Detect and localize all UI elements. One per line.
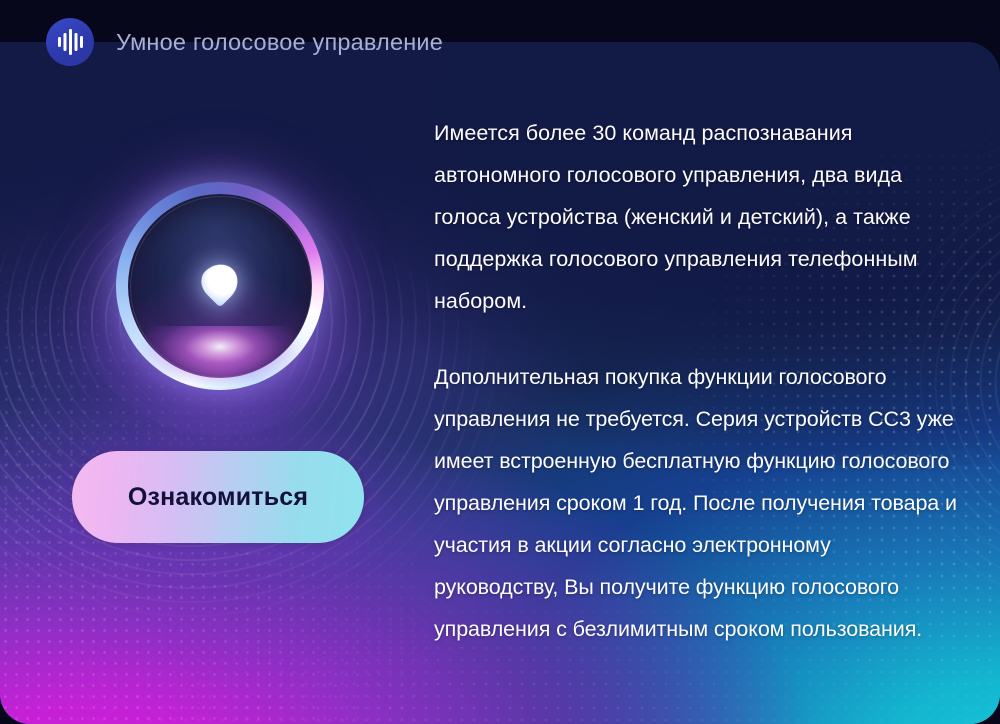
voice-wave-icon [46,18,94,66]
screenshot-root: Умное голосовое управление Ознакомиться … [0,0,1000,724]
description-text-block: Имеется более 30 команд распознавания ав… [434,112,958,650]
voice-assistant-orb [116,182,324,390]
card-header: Умное голосовое управление [0,0,1000,84]
paragraph-2: Дополнительная покупка функции голосовог… [434,356,958,650]
paragraph-1: Имеется более 30 команд распознавания ав… [434,112,958,322]
page-title: Умное голосовое управление [116,29,443,56]
learn-more-button[interactable]: Ознакомиться [72,451,364,543]
